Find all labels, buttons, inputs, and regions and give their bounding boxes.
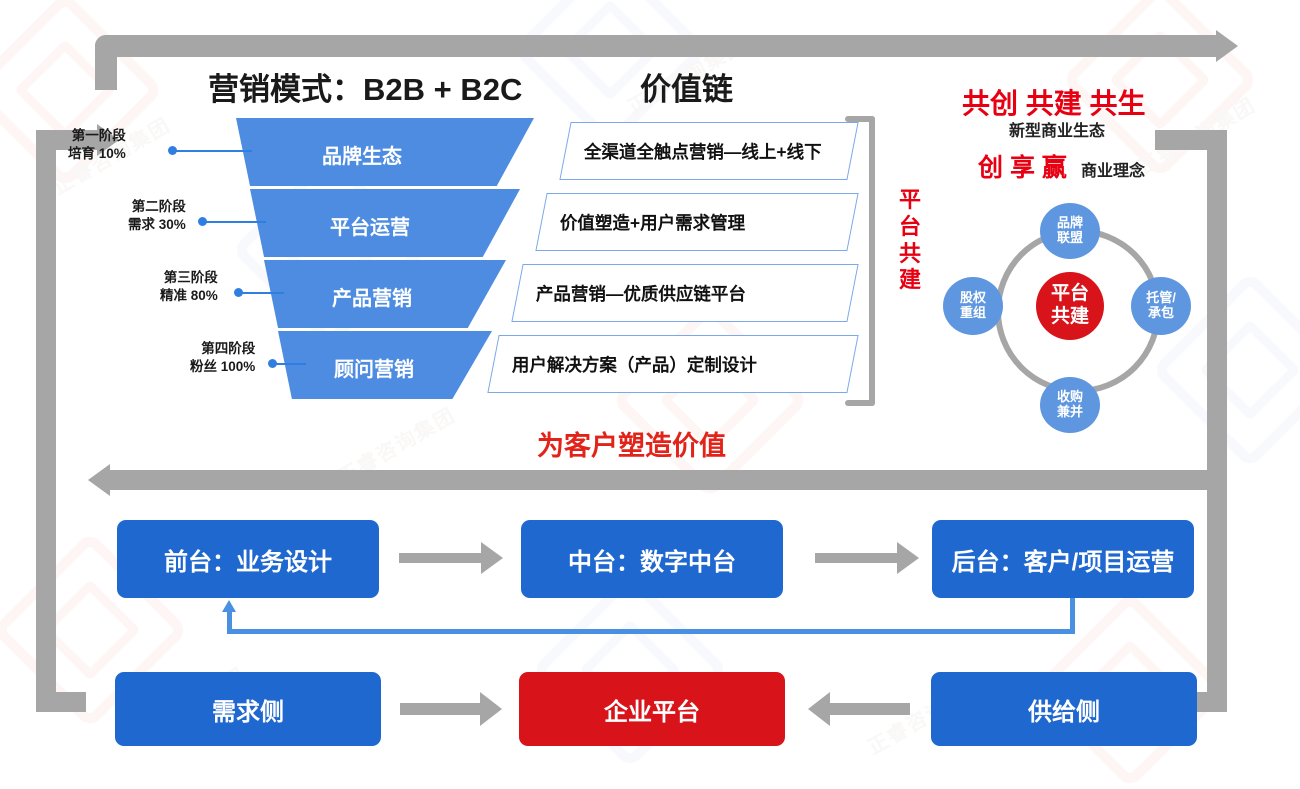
bottom-box-demand[interactable]: 需求侧 xyxy=(115,672,381,746)
stage-3-line2: 精准 80% xyxy=(160,287,218,305)
bottom-box-supply-label: 供给侧 xyxy=(1028,692,1100,727)
outer-top-arrow-bar xyxy=(95,35,1220,57)
mid-return-bar xyxy=(110,470,1150,490)
stage-1-line2: 培育 10% xyxy=(68,145,126,163)
funnel-stage-2-label: 第二阶段 需求 30% xyxy=(128,198,186,234)
bottom-arrow-right-head xyxy=(480,692,502,726)
slogan-main: 共创 共建 共生 xyxy=(962,82,1146,122)
outer-top-arrow-head xyxy=(1216,30,1238,62)
funnel-segment-2-label: 平台运营 xyxy=(330,211,410,240)
bottom-arrow-left-bar xyxy=(830,703,910,715)
funnel-stage-4-label: 第四阶段 粉丝 100% xyxy=(190,340,255,376)
stage-2-line2: 需求 30% xyxy=(128,216,186,234)
stage-4-leader xyxy=(276,363,306,365)
caption-create-value: 为客户塑造价值 xyxy=(537,424,726,463)
page-title-value-chain: 价值链 xyxy=(640,64,733,109)
feedback-arrow-head xyxy=(222,600,236,612)
cobuild-node-bottom-label: 收购兼并 xyxy=(1057,390,1083,420)
value-chain-item-1[interactable]: 全渠道全触点营销—线上+线下 xyxy=(559,122,858,180)
stage-4-line2: 粉丝 100% xyxy=(190,358,255,376)
cobuild-node-left[interactable]: 股权重组 xyxy=(943,277,1003,335)
funnel-stage-1-label: 第一阶段 培育 10% xyxy=(68,127,126,163)
middle-arrow-1-head xyxy=(481,542,503,574)
middle-box-front[interactable]: 前台：业务设计 xyxy=(117,520,379,598)
stage-3-leader xyxy=(242,292,284,294)
cobuild-node-top[interactable]: 品牌联盟 xyxy=(1040,203,1100,259)
bottom-box-supply[interactable]: 供给侧 xyxy=(931,672,1197,746)
bottom-arrow-right-bar xyxy=(400,703,480,715)
funnel-segment-2[interactable]: 平台运营 xyxy=(250,189,520,257)
stage-2-leader xyxy=(206,221,266,223)
stage-1-line1: 第一阶段 xyxy=(68,127,126,145)
cobuild-center-label: 平台共建 xyxy=(1051,283,1089,329)
funnel-segment-1[interactable]: 品牌生态 xyxy=(236,118,534,186)
value-chain-item-2-label: 价值塑造+用户需求管理 xyxy=(542,210,745,235)
middle-box-back[interactable]: 后台：客户/项目运营 xyxy=(932,520,1194,598)
outer-right-rail xyxy=(1207,130,1227,712)
value-chain-item-3[interactable]: 产品营销—优质供应链平台 xyxy=(511,264,858,322)
outer-topleft-corner xyxy=(95,35,117,90)
value-chain-item-1-label: 全渠道全触点营销—线上+线下 xyxy=(566,139,822,164)
cobuild-node-top-label: 品牌联盟 xyxy=(1057,216,1083,246)
middle-arrow-2-head xyxy=(897,542,919,574)
value-chain-item-4[interactable]: 用户解决方案（产品）定制设计 xyxy=(487,335,858,393)
mid-return-arrow-head xyxy=(88,464,110,496)
outer-left-bottom-bend xyxy=(36,692,86,712)
cobuild-node-bottom[interactable]: 收购兼并 xyxy=(1040,377,1100,433)
funnel-segment-4-label: 顾问营销 xyxy=(334,353,414,382)
funnel-segment-1-label: 品牌生态 xyxy=(322,140,402,169)
middle-arrow-2-bar xyxy=(815,553,897,563)
bottom-box-platform[interactable]: 企业平台 xyxy=(519,672,785,746)
value-chain-item-4-label: 用户解决方案（产品）定制设计 xyxy=(494,352,757,377)
cobuild-node-left-label: 股权重组 xyxy=(960,291,986,321)
feedback-horizontal-segment xyxy=(227,629,1075,634)
stage-1-leader xyxy=(176,150,252,152)
bottom-box-platform-label: 企业平台 xyxy=(604,692,700,727)
stage-2-line1: 第二阶段 xyxy=(128,198,186,216)
slogan-main-sub: 新型商业生态 xyxy=(1009,117,1105,141)
middle-arrow-1-bar xyxy=(399,553,481,563)
funnel-stage-3-label: 第三阶段 精准 80% xyxy=(160,269,218,305)
cobuild-node-right-label: 托管/承包 xyxy=(1146,291,1176,321)
bottom-arrow-left-head xyxy=(808,692,830,726)
middle-box-mid-label: 中台：数字中台 xyxy=(568,542,736,577)
diagram-canvas: 正睿咨询集团 正睿咨询集团 正睿咨询集团 正睿咨询集团 正睿咨询集团 正睿咨询集… xyxy=(0,0,1300,786)
cobuild-node-right[interactable]: 托管/承包 xyxy=(1131,277,1191,335)
stage-3-line1: 第三阶段 xyxy=(160,269,218,287)
vlabel-c1: 平 xyxy=(897,187,923,214)
cobuild-center-node[interactable]: 平台共建 xyxy=(1036,272,1104,340)
outer-left-rail xyxy=(36,130,56,712)
vlabel-c4: 建 xyxy=(897,267,923,294)
middle-box-back-label: 后台：客户/项目运营 xyxy=(952,542,1175,577)
bottom-box-demand-label: 需求侧 xyxy=(212,692,284,727)
value-chain-item-2[interactable]: 价值塑造+用户需求管理 xyxy=(535,193,858,251)
funnel-segment-3-label: 产品营销 xyxy=(332,282,412,311)
feedback-up-segment xyxy=(227,612,232,634)
page-title-marketing-mode: 营销模式：B2B + B2C xyxy=(208,64,522,109)
slogan-second: 创 享 赢 xyxy=(978,148,1067,184)
vlabel-c2: 台 xyxy=(897,214,923,241)
slogan-second-sub: 商业理念 xyxy=(1081,157,1145,181)
funnel-segment-4[interactable]: 顾问营销 xyxy=(278,331,492,399)
middle-box-front-label: 前台：业务设计 xyxy=(164,542,332,577)
stage-4-line1: 第四阶段 xyxy=(190,340,255,358)
middle-box-mid[interactable]: 中台：数字中台 xyxy=(521,520,783,598)
value-chain-item-3-label: 产品营销—优质供应链平台 xyxy=(518,281,746,306)
outer-right-top-bend xyxy=(1155,130,1227,150)
funnel-segment-3[interactable]: 产品营销 xyxy=(264,260,506,328)
vlabel-c3: 共 xyxy=(897,241,923,268)
vertical-label-platform-cobuild: 平 台 共 建 xyxy=(897,187,923,294)
